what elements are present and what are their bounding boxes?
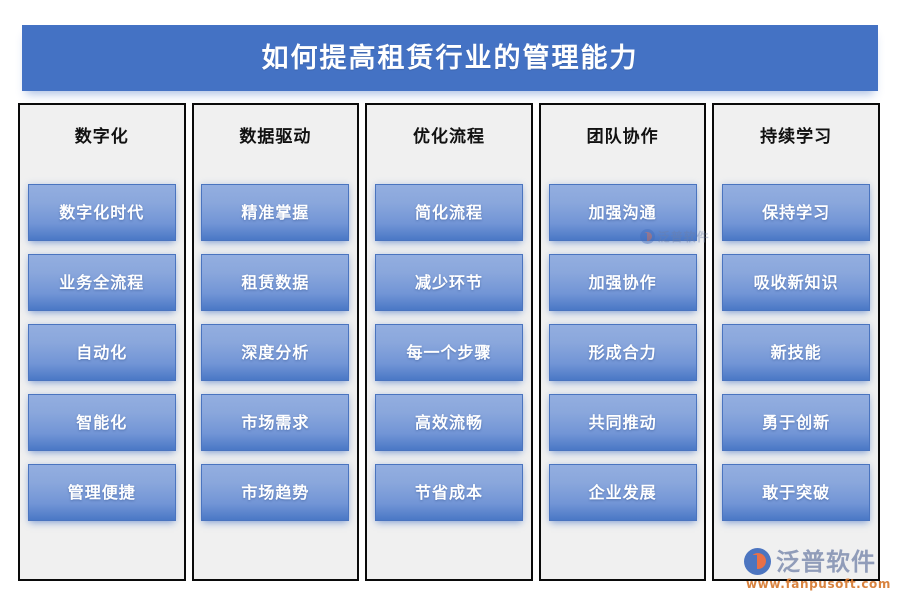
column-title-2: 数据驱动 [239, 129, 311, 146]
pill-item[interactable]: 敢于突破 [722, 464, 870, 521]
pill-item[interactable]: 自动化 [28, 324, 176, 381]
pill-label: 管理便捷 [68, 485, 136, 501]
column-title-5: 持续学习 [760, 129, 832, 146]
column-title-3: 优化流程 [413, 129, 485, 146]
pill-label: 加强沟通 [589, 205, 657, 221]
pill-label: 租赁数据 [241, 275, 309, 291]
inline-watermark: 泛普软件 [640, 229, 710, 244]
inline-watermark-brand: 泛普软件 [658, 231, 710, 243]
pill-label: 加强协作 [589, 275, 657, 291]
pill-label: 高效流畅 [415, 415, 483, 431]
column-card-2: 数据驱动 精准掌握 租赁数据 深度分析 市场需求 市场趋势 [192, 103, 360, 581]
pill-label: 自动化 [76, 345, 127, 361]
title-banner: 如何提高租赁行业的管理能力 [22, 25, 878, 91]
pill-item[interactable]: 精准掌握 [201, 184, 349, 241]
pill-item[interactable]: 市场趋势 [201, 464, 349, 521]
pill-label: 精准掌握 [241, 205, 309, 221]
pill-item[interactable]: 高效流畅 [375, 394, 523, 451]
pill-list-4: 加强沟通 泛普软件 加强协作 形成合力 [541, 184, 705, 521]
column-container: 数字化 数字化时代 业务全流程 自动化 智能化 管理便捷 [18, 103, 880, 581]
pill-list-3: 简化流程 减少环节 每一个步骤 高效流畅 节省成本 [367, 184, 531, 521]
pill-label: 企业发展 [589, 485, 657, 501]
infographic-page: 如何提高租赁行业的管理能力 数字化 数字化时代 业务全流程 自动化 智能化 [0, 0, 900, 600]
pill-label: 吸收新知识 [754, 275, 839, 291]
pill-item[interactable]: 企业发展 [549, 464, 697, 521]
pill-item[interactable]: 租赁数据 [201, 254, 349, 311]
pill-label: 节省成本 [415, 485, 483, 501]
pill-item[interactable]: 新技能 [722, 324, 870, 381]
pill-label: 市场需求 [241, 415, 309, 431]
column-title-4: 团队协作 [587, 129, 659, 146]
pill-label: 简化流程 [415, 205, 483, 221]
pill-item[interactable]: 每一个步骤 [375, 324, 523, 381]
column-title-1: 数字化 [75, 129, 129, 146]
pill-label: 敢于突破 [762, 485, 830, 501]
pill-item[interactable]: 简化流程 [375, 184, 523, 241]
pill-item[interactable]: 市场需求 [201, 394, 349, 451]
pill-item[interactable]: 加强沟通 泛普软件 [549, 184, 697, 241]
pill-item[interactable]: 业务全流程 [28, 254, 176, 311]
page-title: 如何提高租赁行业的管理能力 [262, 45, 639, 72]
pill-label: 深度分析 [241, 345, 309, 361]
pill-item[interactable]: 共同推动 [549, 394, 697, 451]
pill-item[interactable]: 数字化时代 [28, 184, 176, 241]
column-card-1: 数字化 数字化时代 业务全流程 自动化 智能化 管理便捷 [18, 103, 186, 581]
pill-item[interactable]: 形成合力 [549, 324, 697, 381]
pill-label: 减少环节 [415, 275, 483, 291]
pill-item[interactable]: 减少环节 [375, 254, 523, 311]
pill-item[interactable]: 勇于创新 [722, 394, 870, 451]
pill-label: 勇于创新 [762, 415, 830, 431]
pill-item[interactable]: 节省成本 [375, 464, 523, 521]
pill-list-2: 精准掌握 租赁数据 深度分析 市场需求 市场趋势 [194, 184, 358, 521]
pill-item[interactable]: 智能化 [28, 394, 176, 451]
pill-label: 市场趋势 [241, 485, 309, 501]
pill-label: 共同推动 [589, 415, 657, 431]
pill-label: 数字化时代 [59, 205, 144, 221]
column-card-3: 优化流程 简化流程 减少环节 每一个步骤 高效流畅 节省成本 [365, 103, 533, 581]
column-card-5: 持续学习 保持学习 吸收新知识 新技能 勇于创新 敢于突破 [712, 103, 880, 581]
pill-label: 每一个步骤 [406, 345, 491, 361]
fanpu-logo-icon [640, 229, 655, 244]
pill-label: 形成合力 [589, 345, 657, 361]
pill-item[interactable]: 保持学习 [722, 184, 870, 241]
pill-item[interactable]: 深度分析 [201, 324, 349, 381]
pill-label: 新技能 [771, 345, 822, 361]
pill-item[interactable]: 管理便捷 [28, 464, 176, 521]
pill-item[interactable]: 加强协作 [549, 254, 697, 311]
pill-label: 智能化 [76, 415, 127, 431]
pill-label: 业务全流程 [59, 275, 144, 291]
pill-label: 保持学习 [762, 205, 830, 221]
pill-item[interactable]: 吸收新知识 [722, 254, 870, 311]
column-card-4: 团队协作 加强沟通 泛普软件 加强协作 [539, 103, 707, 581]
pill-list-5: 保持学习 吸收新知识 新技能 勇于创新 敢于突破 [714, 184, 878, 521]
pill-list-1: 数字化时代 业务全流程 自动化 智能化 管理便捷 [20, 184, 184, 521]
